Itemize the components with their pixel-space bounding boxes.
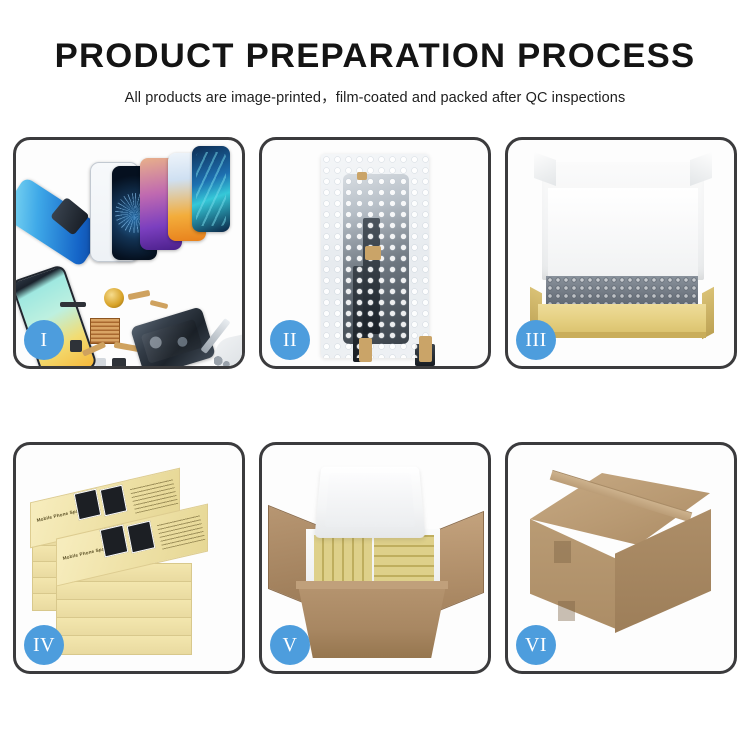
flex-cable-icon bbox=[150, 300, 169, 309]
foam-pad-icon bbox=[548, 188, 698, 276]
tape-tab-icon bbox=[365, 246, 381, 260]
phone-print-icon bbox=[100, 525, 129, 558]
page-title: PRODUCT PREPARATION PROCESS bbox=[0, 38, 750, 75]
box-bottom-edge-icon bbox=[538, 332, 706, 338]
chip-part-icon bbox=[96, 358, 106, 366]
step-badge-6: VI bbox=[516, 625, 556, 665]
stacked-box bbox=[56, 635, 192, 655]
phone-print-icon bbox=[74, 489, 102, 521]
step-panel-2[interactable]: II bbox=[259, 137, 491, 369]
step-badge-3: III bbox=[516, 320, 556, 360]
page-subtitle: All products are image-printed，film-coat… bbox=[0, 86, 750, 107]
yellow-boxes-horizontal-icon bbox=[374, 535, 434, 585]
stacked-box bbox=[56, 599, 192, 619]
stacked-box bbox=[56, 617, 192, 637]
carton-flap-tab-icon bbox=[558, 601, 575, 621]
teal-phone-screen-icon bbox=[192, 146, 230, 232]
coil-part-icon bbox=[104, 288, 124, 308]
yellow-boxes-vertical-icon bbox=[314, 535, 372, 585]
tape-tab-icon bbox=[357, 172, 367, 180]
carton-flap-tab-icon bbox=[554, 541, 571, 563]
step-panel-4[interactable]: Mobile Phone Spare Parts Mobile Phone Sp… bbox=[13, 442, 245, 674]
phone-print-icon bbox=[100, 485, 128, 517]
chip-part-icon bbox=[60, 302, 86, 307]
step-badge-1: I bbox=[24, 320, 64, 360]
tape-tab-icon bbox=[419, 336, 432, 362]
step-panel-1[interactable]: I bbox=[13, 137, 245, 369]
flex-cable-icon bbox=[128, 290, 151, 300]
chip-part-icon bbox=[112, 358, 126, 366]
step-panel-5[interactable]: V bbox=[259, 442, 491, 674]
carton-rim-icon bbox=[296, 581, 448, 589]
stacked-box bbox=[56, 581, 192, 601]
step-badge-4: IV bbox=[24, 625, 64, 665]
step-panel-6[interactable]: VI bbox=[505, 442, 737, 674]
bubble-wrap-bag-icon bbox=[321, 154, 429, 358]
foam-lid-open-icon bbox=[314, 467, 425, 538]
circuit-board-icon bbox=[90, 318, 120, 344]
phone-chassis-icon bbox=[130, 306, 216, 366]
screws-icon bbox=[214, 356, 234, 366]
tape-tab-icon bbox=[359, 338, 372, 362]
page-header: PRODUCT PREPARATION PROCESS All products… bbox=[0, 0, 750, 107]
step-panel-3[interactable]: III bbox=[505, 137, 737, 369]
chip-part-icon bbox=[70, 340, 82, 352]
step-badge-2: II bbox=[270, 320, 310, 360]
step-badge-5: V bbox=[270, 625, 310, 665]
phone-print-icon bbox=[127, 521, 156, 554]
process-steps-grid: I II III bbox=[13, 137, 737, 674]
carton-body-icon bbox=[298, 585, 446, 658]
